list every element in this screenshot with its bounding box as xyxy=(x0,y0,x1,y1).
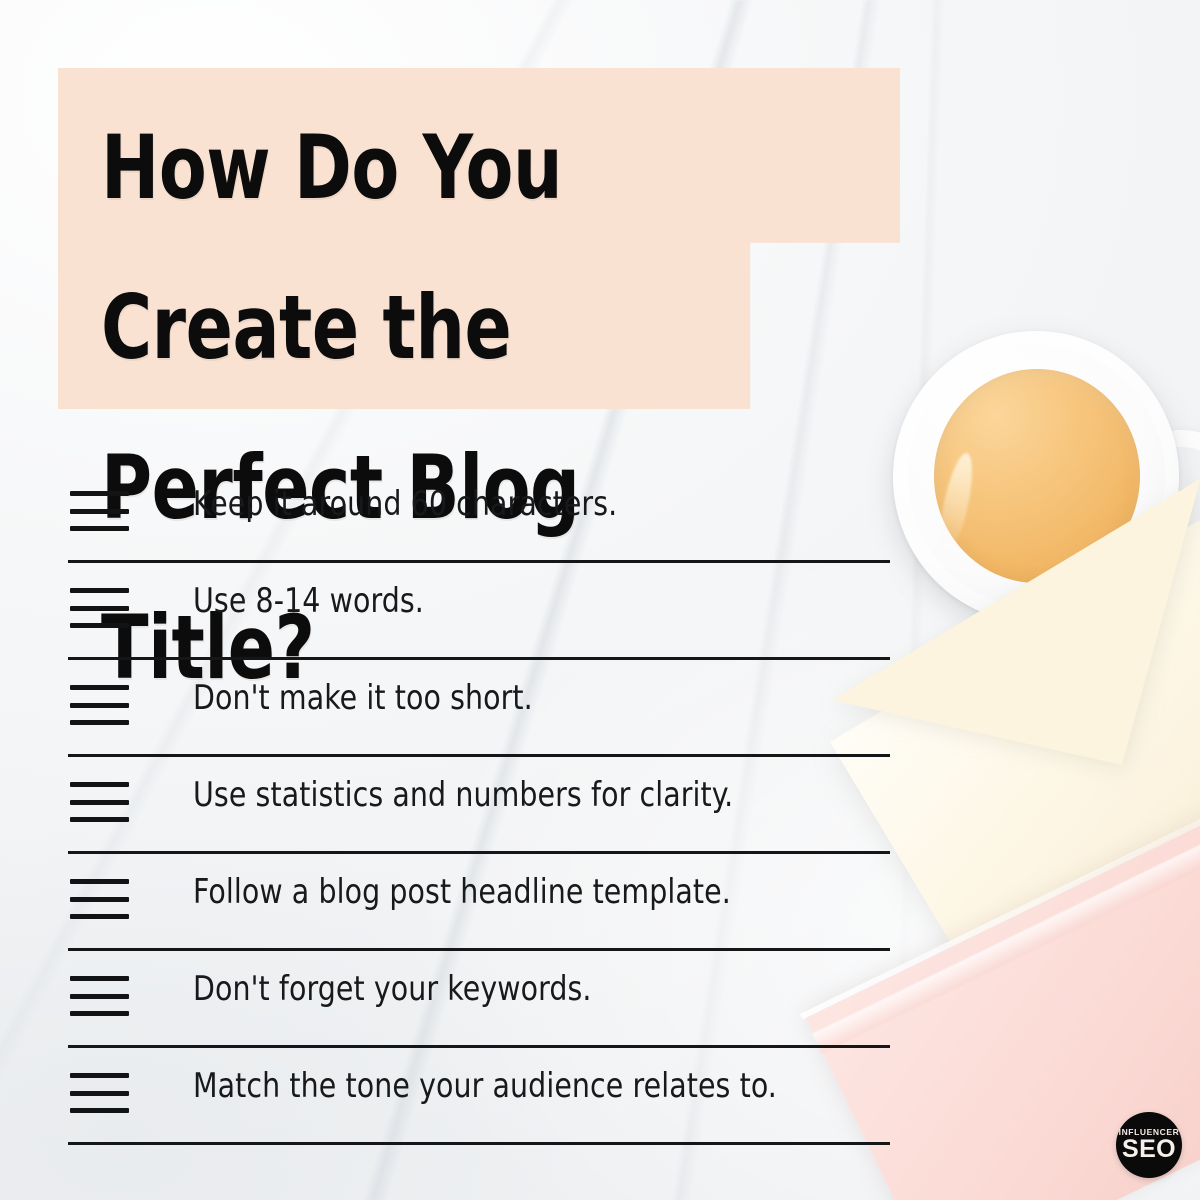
tip-row: Use statistics and numbers for clarity. xyxy=(0,761,1200,858)
infographic-canvas: How Do You Create the Perfect Blog Title… xyxy=(0,0,1200,1200)
hamburger-menu-icon xyxy=(70,685,129,725)
tip-label: Match the tone your audience relates to. xyxy=(193,1066,777,1106)
tip-divider xyxy=(68,560,890,563)
tip-divider xyxy=(68,754,890,757)
tip-row: Don't forget your keywords. xyxy=(0,955,1200,1052)
tip-row: Follow a blog post headline template. xyxy=(0,858,1200,955)
tip-divider xyxy=(68,1045,890,1048)
tips-list: Keep it around 60 characters.Use 8-14 wo… xyxy=(0,470,1200,1149)
tip-label: Keep it around 60 characters. xyxy=(193,484,617,524)
tip-divider xyxy=(68,1142,890,1145)
tip-row: Match the tone your audience relates to. xyxy=(0,1052,1200,1149)
brand-logo-main-text: SEO xyxy=(1122,1137,1176,1162)
tip-label: Use 8-14 words. xyxy=(193,581,424,621)
tip-row: Keep it around 60 characters. xyxy=(0,470,1200,567)
hamburger-menu-icon xyxy=(70,782,129,822)
tip-divider xyxy=(68,851,890,854)
tip-divider xyxy=(68,948,890,951)
tip-label: Don't forget your keywords. xyxy=(193,969,592,1009)
tip-label: Use statistics and numbers for clarity. xyxy=(193,775,733,815)
tip-label: Don't make it too short. xyxy=(193,678,533,718)
hamburger-menu-icon xyxy=(70,879,129,919)
hamburger-menu-icon xyxy=(70,976,129,1016)
brand-logo[interactable]: INFLUENCER SEO xyxy=(1116,1112,1182,1178)
tip-row: Don't make it too short. xyxy=(0,664,1200,761)
tip-label: Follow a blog post headline template. xyxy=(193,872,731,912)
hamburger-menu-icon xyxy=(70,491,129,531)
tip-row: Use 8-14 words. xyxy=(0,567,1200,664)
hamburger-menu-icon xyxy=(70,588,129,628)
hamburger-menu-icon xyxy=(70,1073,129,1113)
tip-divider xyxy=(68,657,890,660)
